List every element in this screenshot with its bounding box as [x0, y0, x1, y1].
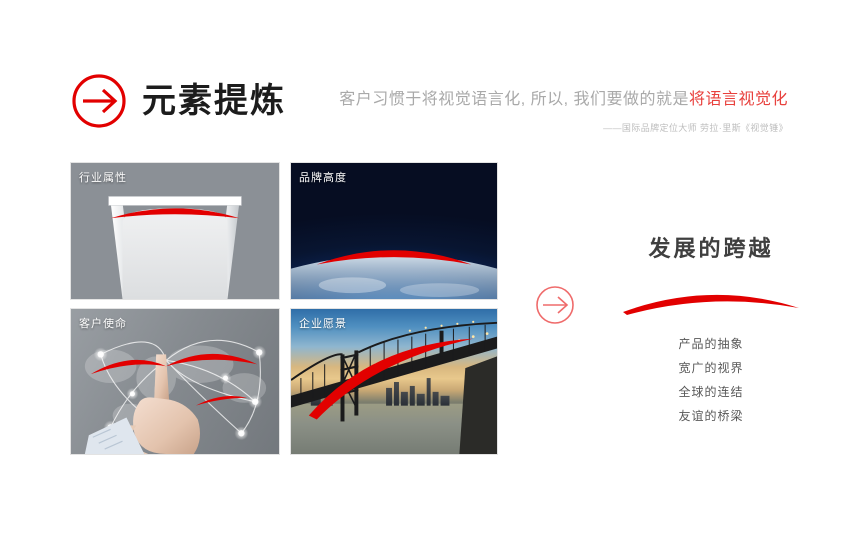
result-list: 产品的抽象 宽广的视界 全球的连结 友谊的桥梁 — [600, 332, 822, 428]
list-item: 全球的连结 — [600, 380, 822, 404]
subtitle-main-text: 客户习惯于将视觉语言化, 所以, 我们要做的就是 — [339, 91, 689, 108]
list-item: 友谊的桥梁 — [600, 404, 822, 428]
result-title: 发展的跨越 — [600, 238, 822, 260]
list-item: 产品的抽象 — [600, 332, 822, 356]
title-group: 元素提炼 — [70, 72, 286, 130]
slide-header: 元素提炼 客户习惯于将视觉语言化, 所以, 我们要做的就是将语言视觉化 ——国际… — [0, 0, 860, 155]
subtitle-line: 客户习惯于将视觉语言化, 所以, 我们要做的就是将语言视觉化 — [318, 88, 788, 112]
panel-brand-height[interactable]: 品牌高度 — [290, 162, 498, 300]
subtitle-block: 客户习惯于将视觉语言化, 所以, 我们要做的就是将语言视觉化 ——国际品牌定位大… — [318, 88, 788, 134]
panel-label: 客户使命 — [79, 315, 127, 331]
result-red-arc — [621, 282, 801, 316]
panel-label: 品牌高度 — [299, 169, 347, 185]
subtitle-accent-text: 将语言视觉化 — [689, 91, 788, 108]
list-item: 宽广的视界 — [600, 356, 822, 380]
page-title: 元素提炼 — [142, 84, 286, 118]
panel-label: 企业愿景 — [299, 315, 347, 331]
attribution-text: ——国际品牌定位大师 劳拉·里斯《视觉锤》 — [318, 121, 788, 134]
result-block: 发展的跨越 产品的抽象 宽广的视界 全球的连结 友谊的桥梁 — [600, 238, 822, 428]
panel-customer-mission[interactable]: 客户使命 — [70, 308, 280, 455]
circled-arrow-right-icon — [70, 72, 128, 130]
connector-arrow-icon — [533, 283, 577, 327]
slide-root: 元素提炼 客户习惯于将视觉语言化, 所以, 我们要做的就是将语言视觉化 ——国际… — [0, 0, 860, 533]
panel-label: 行业属性 — [79, 169, 127, 185]
panel-grid: 行业属性 — [70, 162, 498, 455]
panel-corporate-vision[interactable]: 企业愿景 — [290, 308, 498, 455]
panel-industry-attribute[interactable]: 行业属性 — [70, 162, 280, 300]
